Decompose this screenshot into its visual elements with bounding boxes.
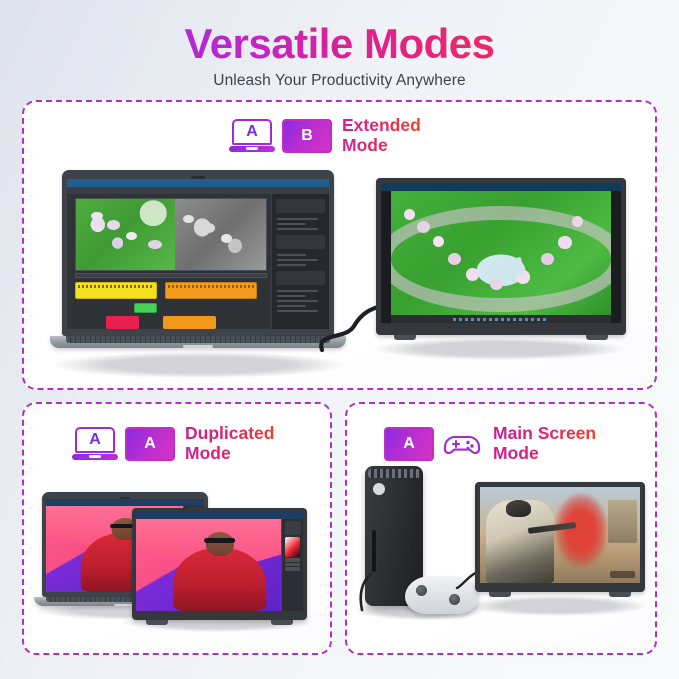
monitor-feet	[475, 592, 645, 597]
monitor-shadow	[467, 596, 647, 616]
laptop-deck	[50, 336, 346, 348]
panel-duplicated-mode: A A Duplicated Mode	[22, 402, 332, 655]
monitor-feet	[376, 335, 626, 340]
portable-monitor-device	[376, 178, 626, 340]
portable-monitor-gaming	[475, 482, 645, 597]
panel-main-screen-mode: A Main Screen Mode	[345, 402, 657, 655]
console-power-icon	[373, 483, 385, 495]
page-title: Versatile Modes	[0, 22, 679, 66]
main-screen-mode-scene	[347, 404, 655, 653]
monitor-shadow	[374, 338, 624, 360]
extended-mode-scene	[24, 102, 655, 388]
console-cable	[353, 572, 379, 612]
page-subtitle: Unleash Your Productivity Anywhere	[0, 72, 679, 90]
panel-extended-mode: A B Extended Mode	[22, 100, 657, 390]
laptop-device	[62, 170, 334, 348]
page-header: Versatile Modes Unleash Your Productivit…	[0, 0, 679, 90]
portable-monitor-duplicated	[132, 508, 307, 625]
monitor-screen-fps-game	[480, 487, 640, 583]
laptop-shadow	[54, 352, 344, 378]
monitor-feet	[132, 620, 307, 625]
monitor-screen-photo-editor	[136, 512, 303, 611]
monitor-screen-drone-footage	[381, 183, 621, 323]
laptop-screen-video-editor	[67, 179, 329, 329]
duplicated-mode-scene	[24, 404, 330, 653]
